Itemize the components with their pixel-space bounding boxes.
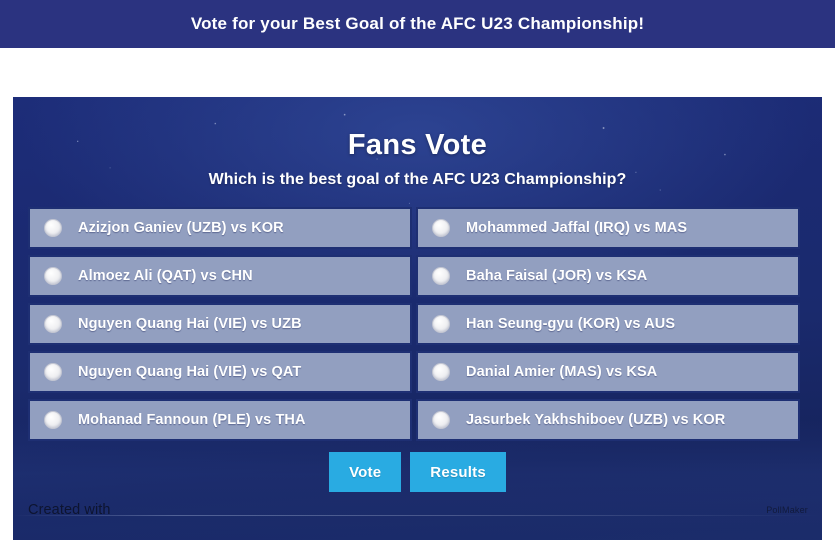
poll-option-right-2[interactable]: Baha Faisal (JOR) vs KSA (416, 255, 800, 297)
poll-option-label: Danial Amier (MAS) vs KSA (466, 364, 657, 380)
poll-page: Vote for your Best Goal of the AFC U23 C… (0, 0, 835, 551)
radio-button-icon[interactable] (432, 315, 450, 333)
poll-option-label: Nguyen Quang Hai (VIE) vs QAT (78, 364, 301, 380)
poll-option-left-3[interactable]: Nguyen Quang Hai (VIE) vs UZB (28, 303, 412, 345)
pollmaker-brand-label: PollMaker (766, 505, 808, 515)
created-with-label: Created with (28, 502, 111, 518)
poll-option-label: Almoez Ali (QAT) vs CHN (78, 268, 253, 284)
page-banner: Vote for your Best Goal of the AFC U23 C… (0, 0, 835, 48)
poll-option-label: Mohanad Fannoun (PLE) vs THA (78, 412, 306, 428)
radio-button-icon[interactable] (44, 219, 62, 237)
poll-option-label: Han Seung-gyu (KOR) vs AUS (466, 316, 675, 332)
poll-option-label: Baha Faisal (JOR) vs KSA (466, 268, 647, 284)
poll-title: Fans Vote (13, 129, 822, 162)
radio-button-icon[interactable] (432, 267, 450, 285)
results-button[interactable]: Results (410, 452, 506, 492)
poll-option-right-4[interactable]: Danial Amier (MAS) vs KSA (416, 351, 800, 393)
poll-option-right-3[interactable]: Han Seung-gyu (KOR) vs AUS (416, 303, 800, 345)
poll-option-label: Azizjon Ganiev (UZB) vs KOR (78, 220, 284, 236)
radio-button-icon[interactable] (432, 363, 450, 381)
poll-options-grid: Azizjon Ganiev (UZB) vs KOR Mohammed Jaf… (28, 207, 800, 441)
poll-actions: Vote Results (13, 452, 822, 492)
radio-button-icon[interactable] (44, 363, 62, 381)
poll-option-left-4[interactable]: Nguyen Quang Hai (VIE) vs QAT (28, 351, 412, 393)
radio-button-icon[interactable] (44, 315, 62, 333)
radio-button-icon[interactable] (432, 411, 450, 429)
poll-question: Which is the best goal of the AFC U23 Ch… (13, 171, 822, 189)
radio-button-icon[interactable] (44, 411, 62, 429)
poll-option-right-1[interactable]: Mohammed Jaffal (IRQ) vs MAS (416, 207, 800, 249)
radio-button-icon[interactable] (432, 219, 450, 237)
vote-button[interactable]: Vote (329, 452, 401, 492)
banner-title: Vote for your Best Goal of the AFC U23 C… (191, 14, 644, 34)
poll-panel: Fans Vote Which is the best goal of the … (13, 97, 822, 540)
radio-button-icon[interactable] (44, 267, 62, 285)
poll-option-left-5[interactable]: Mohanad Fannoun (PLE) vs THA (28, 399, 412, 441)
poll-option-right-5[interactable]: Jasurbek Yakhshiboev (UZB) vs KOR (416, 399, 800, 441)
poll-option-label: Mohammed Jaffal (IRQ) vs MAS (466, 220, 687, 236)
poll-option-label: Nguyen Quang Hai (VIE) vs UZB (78, 316, 302, 332)
poll-option-label: Jasurbek Yakhshiboev (UZB) vs KOR (466, 412, 725, 428)
poll-content: Fans Vote Which is the best goal of the … (13, 97, 822, 540)
poll-option-left-1[interactable]: Azizjon Ganiev (UZB) vs KOR (28, 207, 412, 249)
poll-option-left-2[interactable]: Almoez Ali (QAT) vs CHN (28, 255, 412, 297)
